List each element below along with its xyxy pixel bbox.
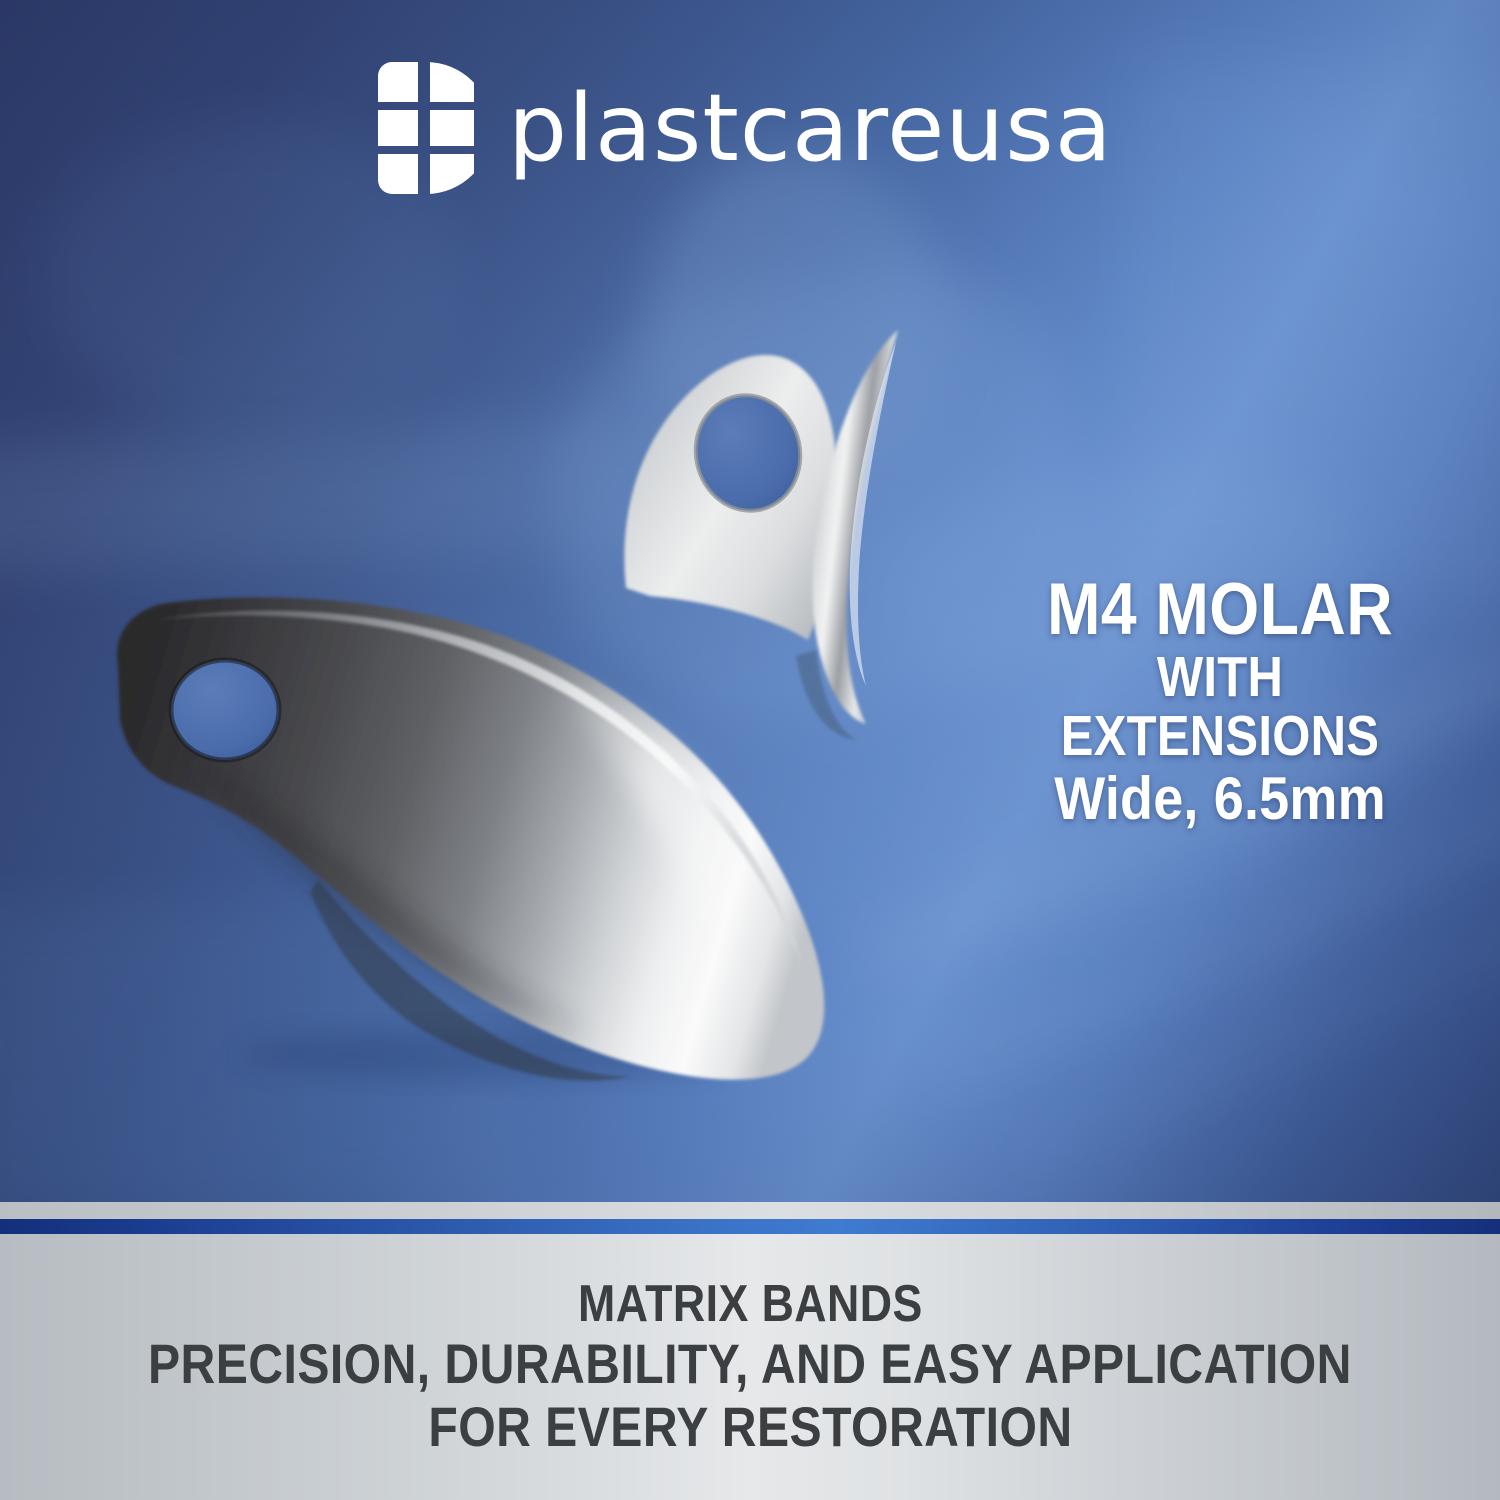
product-image <box>60 320 960 1110</box>
brand-wordmark: plastcareusa <box>508 82 1113 175</box>
divider-blue-bar <box>0 1219 1500 1234</box>
plastcare-shield-cross-icon <box>378 62 474 194</box>
brand-logo: plastcareusa <box>378 62 1113 194</box>
product-card: plastcareusa <box>0 0 1500 1500</box>
caption-line-2: FOR EVERY RESTORATION <box>428 1396 1072 1459</box>
product-title-block: M4 MOLAR WITH EXTENSIONS Wide, 6.5mm <box>985 575 1455 829</box>
divider-silver-strip <box>0 1202 1500 1219</box>
caption-headline: MATRIX BANDS <box>578 1275 923 1333</box>
hero-panel: plastcareusa <box>0 0 1500 1202</box>
caption-line-1: PRECISION, DURABILITY, AND EASY APPLICAT… <box>148 1333 1352 1396</box>
product-size: Wide, 6.5mm <box>1009 768 1432 829</box>
caption-bar: MATRIX BANDS PRECISION, DURABILITY, AND … <box>0 1234 1500 1500</box>
product-variant: WITH EXTENSIONS <box>1018 648 1422 765</box>
product-name: M4 MOLAR <box>1013 575 1427 644</box>
